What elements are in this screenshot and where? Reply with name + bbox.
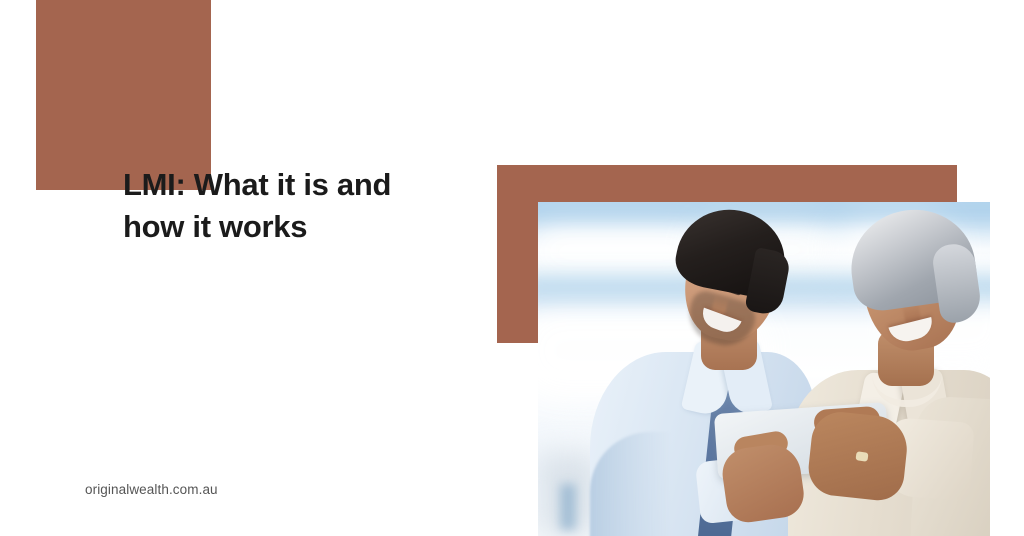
accent-block-left <box>36 0 211 190</box>
slide-canvas: LMI: What it is and how it works origina… <box>0 0 1024 536</box>
businesswoman-ring <box>855 451 868 462</box>
page-title: LMI: What it is and how it works <box>123 164 483 248</box>
site-url-label: originalwealth.com.au <box>85 481 218 499</box>
hero-photo <box>538 202 990 536</box>
background-cabinet <box>560 484 576 530</box>
